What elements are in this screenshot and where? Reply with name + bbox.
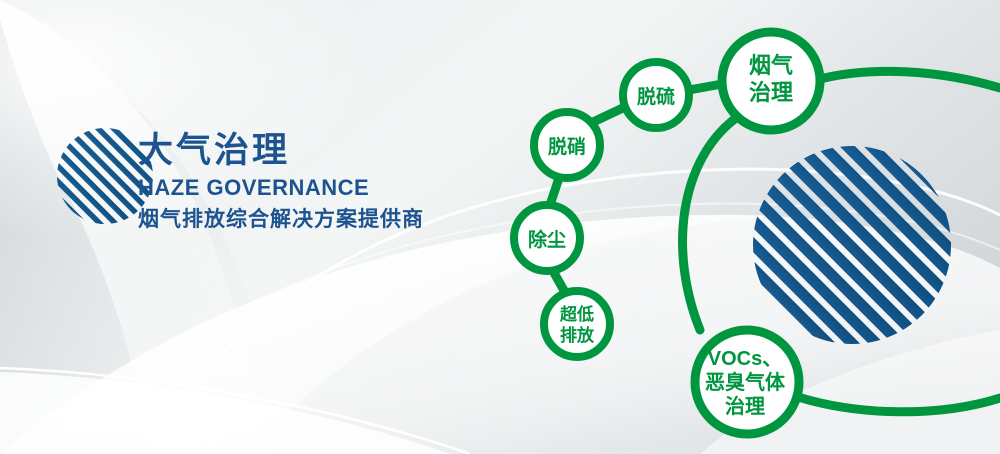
node-vocs-label-line1: VOCs、 xyxy=(708,348,782,370)
link-tuoliu-main xyxy=(689,84,722,90)
link-main-vocs-arc xyxy=(683,118,736,330)
brand-text-block: 大气治理 HAZE GOVERNANCE 烟气排放综合解决方案提供商 xyxy=(138,131,424,233)
link-vocs-right-tail xyxy=(798,397,1000,412)
page-subtitle: 烟气排放综合解决方案提供商 xyxy=(138,206,424,233)
node-chaodi-label-line2: 排放 xyxy=(560,325,595,345)
node-chuchen-label: 除尘 xyxy=(528,228,566,251)
node-tuoxiao[interactable]: 脱硝 xyxy=(534,112,600,178)
node-vocs[interactable]: VOCs、 恶臭气体 治理 xyxy=(695,330,799,434)
node-tuoxiao-label: 脱硝 xyxy=(548,135,586,158)
node-chaodi[interactable]: 超低 排放 xyxy=(544,291,610,357)
node-tuoliu-label: 脱硫 xyxy=(637,85,675,108)
page-title-english: HAZE GOVERNANCE xyxy=(138,174,424,202)
haze-governance-banner: 烟气 治理 脱硫 脱硝 除尘 超低 排放 VOCs、 恶臭气体 xyxy=(0,0,1000,454)
node-main[interactable]: 烟气 治理 xyxy=(722,32,820,130)
node-chaodi-label-line1: 超低 xyxy=(560,304,594,324)
node-tuoliu[interactable]: 脱硫 xyxy=(623,62,689,128)
node-main-label-line2: 治理 xyxy=(749,80,793,105)
link-chuchen-tuoxiao xyxy=(550,178,559,205)
node-chuchen[interactable]: 除尘 xyxy=(514,205,580,271)
node-vocs-label-line2: 恶臭气体 xyxy=(705,370,786,394)
page-title: 大气治理 xyxy=(138,131,424,171)
node-vocs-label-line3: 治理 xyxy=(725,394,765,418)
node-main-label-line1: 烟气 xyxy=(749,53,793,78)
link-main-right-tail xyxy=(820,71,1000,88)
node-chaodi-circle[interactable] xyxy=(544,291,610,357)
